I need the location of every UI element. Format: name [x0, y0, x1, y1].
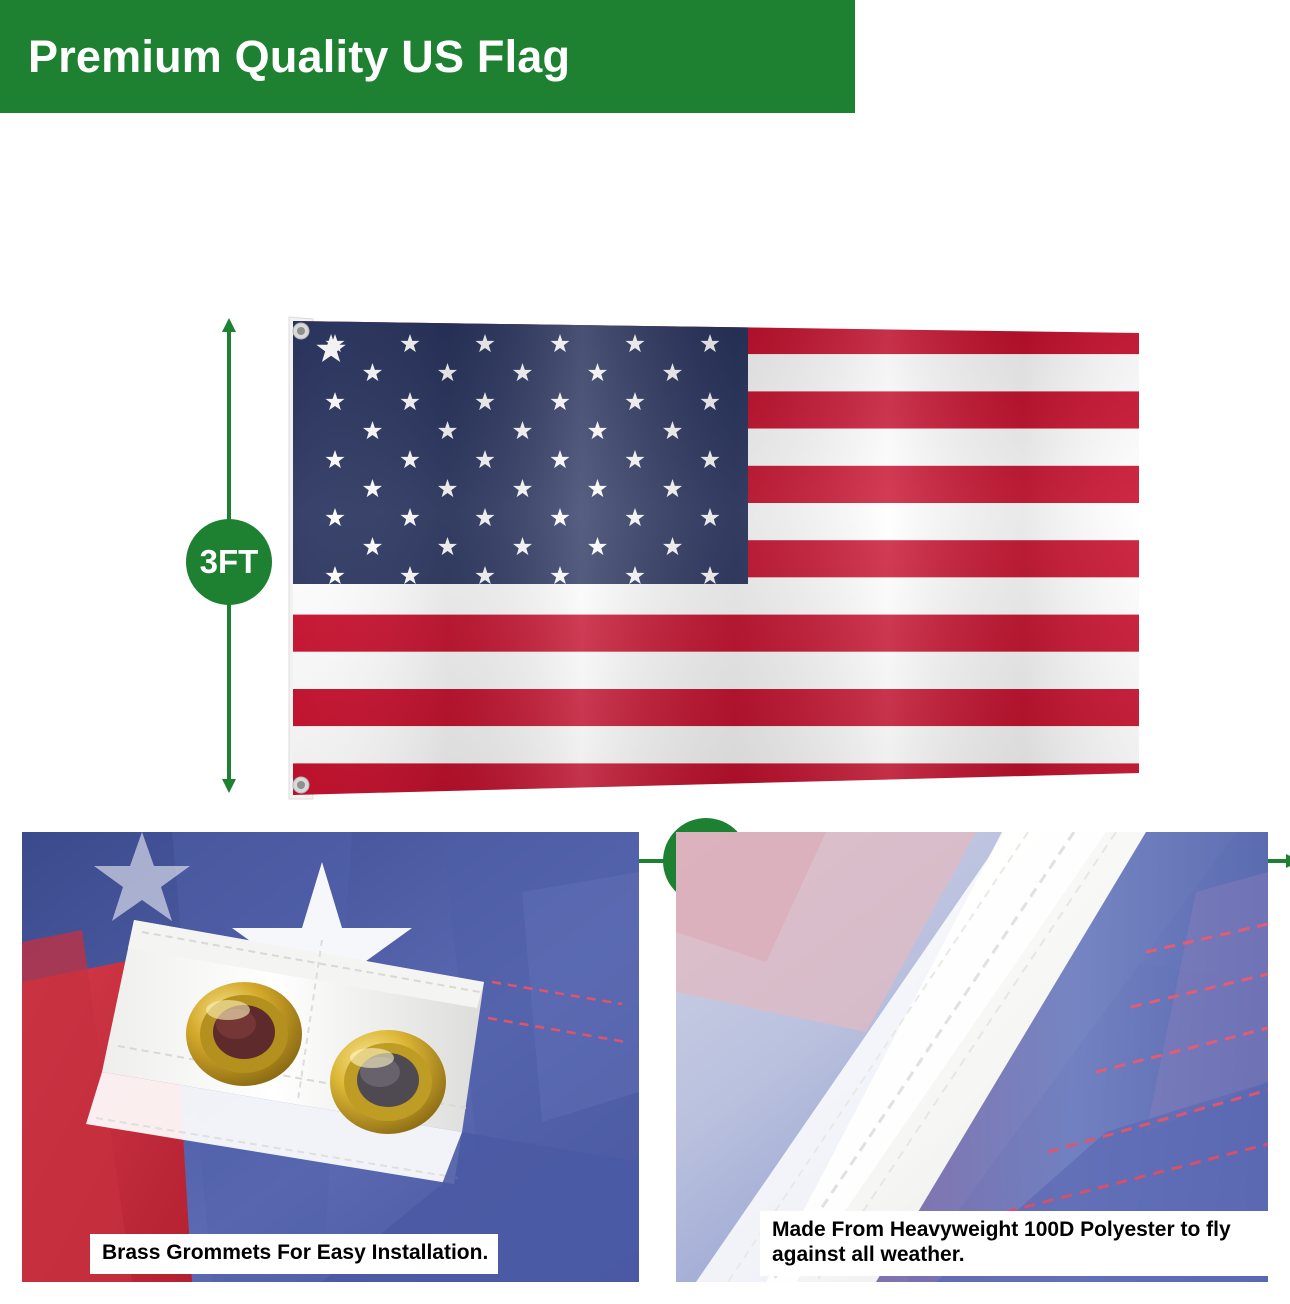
grommet-bottom: [293, 777, 309, 793]
page-title: Premium Quality US Flag: [28, 34, 570, 79]
polyester-material-photo: Made From Heavyweight 100D Polyester to …: [676, 832, 1268, 1282]
height-badge: 3FT: [186, 519, 272, 605]
brass-grommets-photo: Brass Grommets For Easy Installation.: [22, 832, 639, 1282]
arrow-right-icon: [1286, 854, 1290, 868]
photo-caption-right: Made From Heavyweight 100D Polyester to …: [760, 1211, 1268, 1276]
us-flag-image: [283, 303, 1143, 808]
arrow-down-icon: [222, 779, 236, 793]
header-banner: Premium Quality US Flag: [0, 0, 855, 113]
photo-caption-left: Brass Grommets For Easy Installation.: [90, 1234, 498, 1274]
brass-grommet-1: [186, 982, 302, 1086]
flag-showcase-panel: 3FT: [0, 113, 1290, 820]
brass-grommet-2: [330, 1030, 446, 1134]
grommet-top: [293, 323, 309, 339]
